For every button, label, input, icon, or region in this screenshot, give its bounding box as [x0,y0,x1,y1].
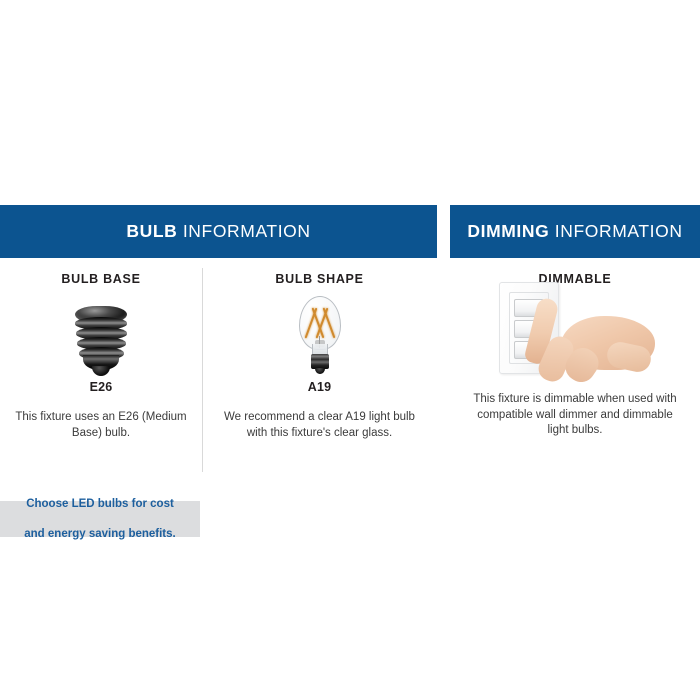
column-title-bulb-shape: BULB SHAPE [202,272,437,286]
a19-light-bulb-icon [202,294,437,376]
panel-header-title-dimming-bold: DIMMING [467,221,549,241]
wall-dimmer-graphic [489,280,661,376]
a19-screw-cap [311,354,329,369]
led-tip-text: Choose LED bulbs for costand energy savi… [24,497,175,542]
e26-contact-tip [92,366,110,376]
description-bulb-shape: We recommend a clear A19 light bulb with… [222,410,418,441]
panel-header-bulb-information: BULB INFORMATION [0,205,437,258]
panel-bulb-information: BULB INFORMATION BULB BASE [0,205,437,490]
panel-header-title-bulb-rest: INFORMATION [177,221,310,241]
a19-light-bulb-graphic [297,296,343,376]
panel-header-title-bulb: BULB INFORMATION [126,221,310,242]
panel-header-title-bulb-bold: BULB [126,221,177,241]
panel-body-bulb-information: BULB BASE E [0,258,437,490]
art-label-a19: A19 [202,380,437,394]
e26-socket-base-graphic [73,306,129,376]
column-bulb-shape: BULB SHAPE [202,258,437,490]
panel-dimming-information: DIMMING INFORMATION DIMMABLE [450,205,700,490]
hand-graphic [525,296,657,376]
panel-header-dimming-information: DIMMING INFORMATION [450,205,700,258]
led-tip-callout: Choose LED bulbs for costand energy savi… [0,501,200,537]
led-tip-line-2: and energy saving benefits. [24,527,175,542]
column-dimmable: DIMMABLE [450,258,700,490]
infographic-canvas: BULB INFORMATION BULB BASE [0,0,700,700]
a19-contact-tip [315,368,325,374]
description-bulb-base: This fixture uses an E26 (Medium Base) b… [10,410,192,441]
art-label-e26: E26 [0,380,202,394]
column-bulb-base: BULB BASE E [0,258,202,490]
wall-dimmer-switch-with-hand-icon [450,294,700,376]
dimming-columns: DIMMABLE [450,258,700,490]
column-title-bulb-base: BULB BASE [0,272,202,286]
led-tip-line-1: Choose LED bulbs for cost [24,497,175,512]
panel-body-dimming-information: DIMMABLE [450,258,700,490]
panel-header-title-dimming-rest: INFORMATION [549,221,682,241]
e26-socket-base-icon [0,294,202,376]
bulb-columns: BULB BASE E [0,258,437,490]
panel-header-title-dimming: DIMMING INFORMATION [467,221,682,242]
description-dimmable: This fixture is dimmable when used with … [469,392,681,439]
panels-row: BULB INFORMATION BULB BASE [0,205,700,490]
